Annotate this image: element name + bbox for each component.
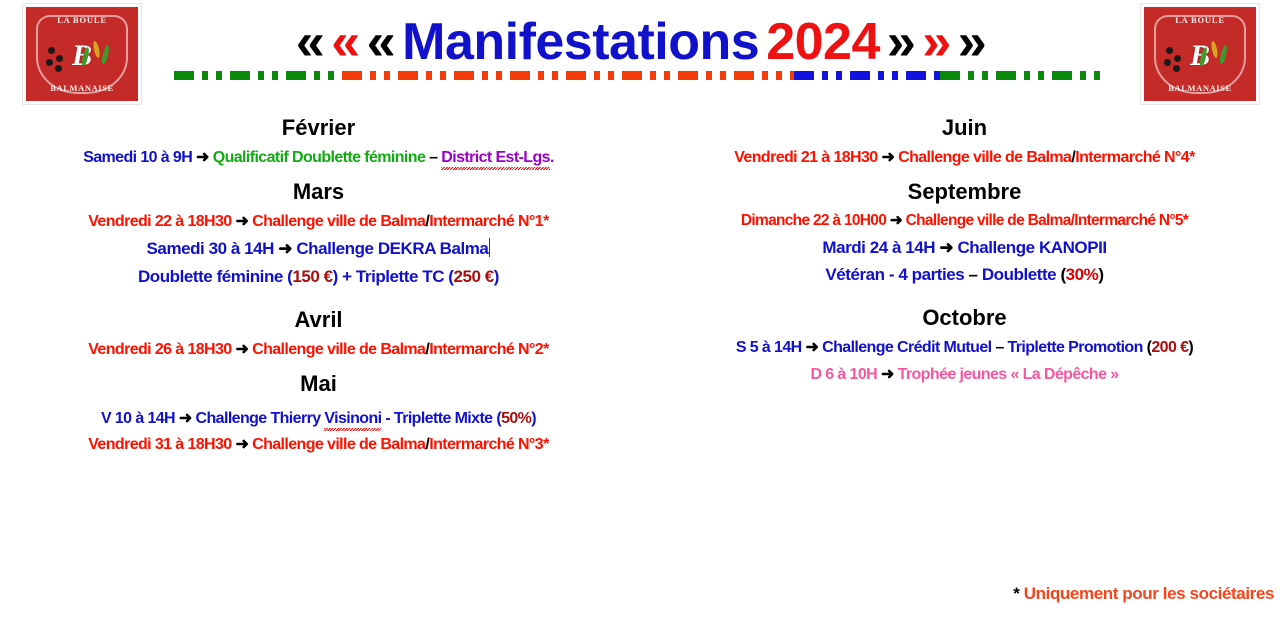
logo-top-text: LA BOULE (26, 15, 138, 25)
guillemet-open-2-icon: « (331, 13, 359, 71)
event-text: 30% (1066, 265, 1099, 284)
club-logo-right: LA BOULE B BALMANAISE (1140, 3, 1260, 105)
event-text: Challenge ville de Balma (252, 436, 425, 453)
dash-separator: – (429, 149, 437, 166)
event-row: Vendredi 21 à 18H30 ➜ Challenge ville de… (653, 148, 1276, 167)
event-text: D 6 à 10H (810, 366, 877, 383)
event-row: D 6 à 10H ➜ Trophée jeunes « La Dépêche … (653, 365, 1276, 384)
event-text: ) (531, 410, 536, 427)
boule-icon (48, 47, 55, 54)
logo-badge: LA BOULE B BALMANAISE (26, 7, 138, 101)
event-row: Mardi 24 à 14H ➜ Challenge KANOPII (653, 238, 1276, 258)
boule-icon (46, 59, 53, 66)
arrow-icon: ➜ (179, 410, 192, 427)
boule-icon (1164, 59, 1171, 66)
event-text: - Triplette Mixte ( (381, 410, 501, 427)
club-logo-left: LA BOULE B BALMANAISE (22, 3, 142, 105)
month-heading-juin: Juin (653, 115, 1276, 141)
event-text: Qualificatif Doublette féminine (213, 149, 426, 166)
logo-bottom-text: BALMANAISE (1144, 83, 1256, 93)
arrow-icon: ➜ (939, 238, 953, 257)
dash-separator: – (995, 339, 1003, 356)
event-text: Triplette Promotion (1008, 339, 1143, 356)
event-text: Doublette féminine ( (138, 267, 292, 286)
misspelled-text: Visinoni (324, 409, 381, 428)
event-text: Samedi 30 à 14H (147, 239, 274, 258)
event-text: Vendredi 31 à 18H30 (88, 436, 231, 453)
page-title: «««Manifestations2024»»» (170, 16, 1112, 80)
event-text: ) (1188, 339, 1193, 356)
event-text: Challenge ville de Balma (252, 341, 425, 358)
event-text: Intermarché N°3* (429, 436, 549, 453)
footnote: * Uniquement pour les sociétaires (1013, 584, 1274, 604)
event-row: Vétéran - 4 parties – Doublette (30%) (653, 265, 1276, 285)
arrow-icon: ➜ (235, 436, 248, 453)
event-row: Samedi 10 à 9H ➜ Qualificatif Doublette … (4, 148, 633, 167)
event-text: Dimanche 22 à 10H00 (741, 212, 886, 229)
title-line: «««Manifestations2024»»» (170, 16, 1112, 69)
text-caret (489, 238, 490, 257)
event-text: 200 € (1151, 339, 1188, 356)
event-row: S 5 à 14H ➜ Challenge Crédit Mutuel – Tr… (653, 338, 1276, 357)
underline-segment-green (174, 71, 342, 80)
month-heading-mai: Mai (4, 371, 633, 397)
event-text: Vendredi 26 à 18H30 (88, 341, 231, 358)
event-row: Dimanche 22 à 10H00 ➜ Challenge ville de… (653, 212, 1276, 231)
page-header: LA BOULE B BALMANAISE «««Manifestations2… (0, 0, 1282, 108)
arrow-icon: ➜ (196, 149, 209, 166)
event-text: Intermarché N°4* (1075, 149, 1195, 166)
footnote-text: Uniquement pour les sociétaires (1024, 584, 1274, 603)
left-column: Février Samedi 10 à 9H ➜ Qualificatif Do… (0, 108, 641, 626)
underline-segment-blue (794, 71, 940, 80)
event-text: Challenge ville de Balma (252, 213, 425, 230)
event-text: ) + Triplette TC ( (333, 267, 454, 286)
title-year: 2024 (766, 13, 880, 71)
event-text: Challenge Thierry (196, 410, 325, 427)
month-heading-mars: Mars (4, 179, 633, 205)
arrow-icon: ➜ (278, 239, 292, 258)
arrow-icon: ➜ (881, 149, 894, 166)
event-text: 150 € (292, 267, 332, 286)
boule-icon (1173, 65, 1180, 72)
boule-icon (1166, 47, 1173, 54)
logo-top-text: LA BOULE (1144, 15, 1256, 25)
event-text: V 10 à 14H (101, 410, 175, 427)
event-text: Mardi 24 à 14H (822, 238, 935, 257)
arrow-icon: ➜ (890, 212, 902, 229)
event-row: Vendredi 22 à 18H30 ➜ Challenge ville de… (4, 212, 633, 231)
event-row: Samedi 30 à 14H ➜ Challenge DEKRA Balma (4, 238, 633, 259)
month-heading-fevrier: Février (4, 115, 633, 141)
underline-segment-green-2 (940, 71, 1108, 80)
event-row: V 10 à 14H ➜ Challenge Thierry Visinoni … (4, 409, 633, 428)
arrow-icon: ➜ (235, 341, 248, 358)
event-row: Vendredi 26 à 18H30 ➜ Challenge ville de… (4, 340, 633, 359)
event-text: Challenge KANOPII (957, 238, 1106, 257)
month-heading-octobre: Octobre (653, 305, 1276, 331)
logo-badge: LA BOULE B BALMANAISE (1144, 7, 1256, 101)
event-text: ( (1056, 265, 1065, 284)
logo-bottom-text: BALMANAISE (26, 83, 138, 93)
event-text: Vendredi 22 à 18H30 (88, 213, 231, 230)
event-text: Trophée jeunes « La Dépêche » (898, 366, 1119, 383)
dash-separator: – (969, 265, 978, 284)
event-text: Samedi 10 à 9H (83, 149, 192, 166)
event-text: Vendredi 21 à 18H30 (734, 149, 877, 166)
month-heading-avril: Avril (4, 307, 633, 333)
event-row: Doublette féminine (150 €) + Triplette T… (4, 267, 633, 287)
boule-icon (1174, 55, 1181, 62)
month-heading-septembre: Septembre (653, 179, 1276, 205)
event-text: 250 € (454, 267, 494, 286)
guillemet-open-3-icon: « (367, 13, 395, 71)
footnote-marker: * (1013, 584, 1019, 603)
title-underline (174, 71, 1108, 80)
boule-icon (56, 55, 63, 62)
boule-icon (55, 65, 62, 72)
event-text: . (550, 149, 554, 166)
event-text: Vétéran - 4 parties (825, 265, 964, 284)
arrow-icon: ➜ (805, 339, 818, 356)
title-word: Manifestations (402, 13, 759, 71)
guillemet-close-3-icon: » (958, 13, 986, 71)
events-columns: Février Samedi 10 à 9H ➜ Qualificatif Do… (0, 108, 1282, 626)
misspelled-text: District Est-Lgs (441, 148, 550, 167)
event-text: 50% (501, 410, 531, 427)
event-text: S 5 à 14H (736, 339, 802, 356)
event-text: Doublette (982, 265, 1056, 284)
event-text: Challenge DEKRA Balma (296, 239, 488, 258)
event-text: ) (494, 267, 499, 286)
arrow-icon: ➜ (235, 213, 248, 230)
underline-segment-orange (342, 71, 794, 80)
event-text: Challenge Crédit Mutuel (822, 339, 991, 356)
event-text: Intermarché N°1* (429, 213, 549, 230)
event-text: ) (1098, 265, 1103, 284)
guillemet-close-1-icon: » (887, 13, 915, 71)
guillemet-open-1-icon: « (296, 13, 324, 71)
event-text: Challenge ville de Balma/Intermarché N°5… (906, 212, 1188, 229)
event-row: Vendredi 31 à 18H30 ➜ Challenge ville de… (4, 435, 633, 454)
guillemet-close-2-icon: » (922, 13, 950, 71)
event-text: Challenge ville de Balma (898, 149, 1071, 166)
event-text: Intermarché N°2* (429, 341, 549, 358)
arrow-icon: ➜ (881, 366, 894, 383)
right-column: Juin Vendredi 21 à 18H30 ➜ Challenge vil… (641, 108, 1282, 626)
